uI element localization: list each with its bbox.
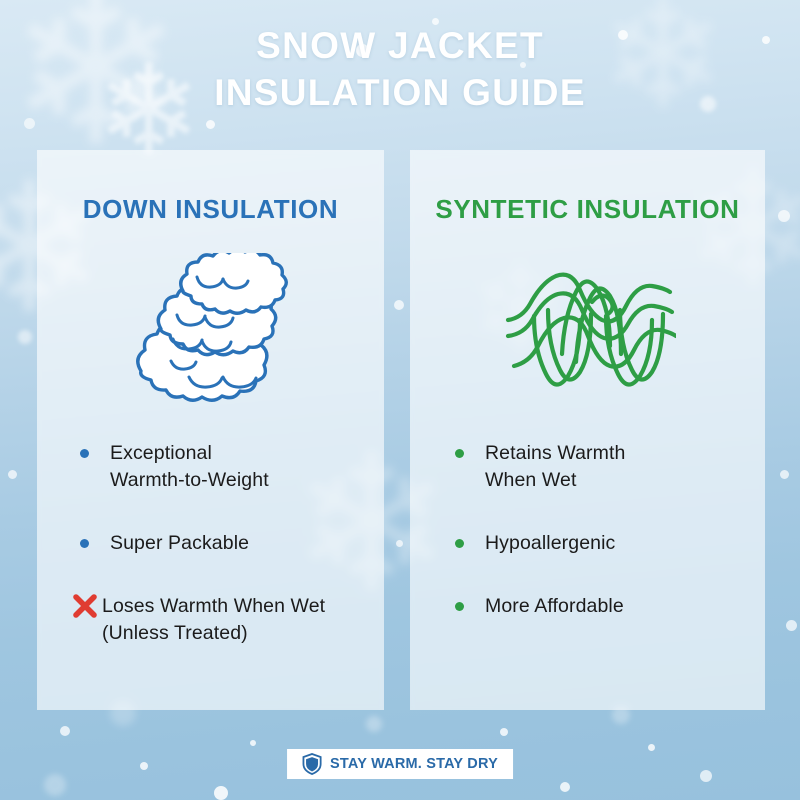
bokeh-dot bbox=[24, 118, 35, 129]
bullet-dot-icon bbox=[80, 440, 110, 467]
shield-icon bbox=[302, 753, 322, 775]
bokeh-dot bbox=[366, 716, 382, 732]
bokeh-dot bbox=[560, 782, 570, 792]
bokeh-dot bbox=[44, 774, 66, 796]
bokeh-dot bbox=[214, 786, 228, 800]
bullet-dot-icon bbox=[455, 593, 485, 620]
synthetic-illustration bbox=[410, 248, 765, 418]
bokeh-dot bbox=[778, 210, 790, 222]
card-synthetic-title: SYNTETIC INSULATION bbox=[410, 194, 765, 225]
bullet-dot-icon bbox=[455, 530, 485, 557]
bokeh-dot bbox=[786, 620, 797, 631]
page-title-line-1: SNOW JACKET bbox=[256, 25, 544, 66]
status-badge: STAY WARM. STAY DRY bbox=[287, 749, 513, 779]
status-badge-label: STAY WARM. STAY DRY bbox=[330, 756, 498, 772]
list-item-label: Loses Warmth When Wet (Unless Treated) bbox=[102, 593, 325, 647]
cross-mark-icon-glyph bbox=[72, 593, 98, 619]
list-item-label: Retains Warmth When Wet bbox=[485, 440, 625, 494]
bullet-dot-icon bbox=[455, 440, 485, 467]
list-item: Exceptional Warmth-to-Weight bbox=[37, 440, 384, 494]
list-item-label: Exceptional Warmth-to-Weight bbox=[110, 440, 269, 494]
infographic-canvas: ❄ ❄ ❄ ❄ ❄ ❄ ❄ SNOW JACKET bbox=[0, 0, 800, 800]
list-item: Retains Warmth When Wet bbox=[410, 440, 765, 494]
synthetic-bullet-list: Retains Warmth When Wet Hypoallergenic M… bbox=[410, 440, 765, 656]
list-item-label: Hypoallergenic bbox=[485, 530, 615, 557]
bokeh-dot bbox=[18, 330, 32, 344]
bokeh-dot bbox=[60, 726, 70, 736]
card-synthetic-insulation: SYNTETIC INSULATION bbox=[410, 150, 765, 710]
list-item-label: More Affordable bbox=[485, 593, 624, 620]
list-item: More Affordable bbox=[410, 593, 765, 620]
card-down-insulation: DOWN INSULATION bbox=[37, 150, 384, 710]
list-item-label: Super Packable bbox=[110, 530, 249, 557]
bokeh-dot bbox=[394, 300, 404, 310]
bokeh-dot bbox=[700, 770, 712, 782]
down-cluster-icon bbox=[127, 253, 295, 413]
card-down-title: DOWN INSULATION bbox=[37, 194, 384, 225]
bokeh-dot bbox=[250, 740, 256, 746]
page-title-line-2: INSULATION GUIDE bbox=[0, 69, 800, 116]
bokeh-dot bbox=[140, 762, 148, 770]
bullet-dot-icon bbox=[80, 530, 110, 557]
synthetic-fiber-icon bbox=[500, 258, 676, 408]
bokeh-dot bbox=[8, 470, 17, 479]
list-item: Hypoallergenic bbox=[410, 530, 765, 557]
bokeh-dot bbox=[500, 728, 508, 736]
list-item: Super Packable bbox=[37, 530, 384, 557]
list-item: Loses Warmth When Wet (Unless Treated) bbox=[37, 593, 384, 647]
cross-mark-icon bbox=[72, 593, 102, 620]
bokeh-dot bbox=[396, 540, 403, 547]
bokeh-dot bbox=[206, 120, 215, 129]
down-illustration bbox=[37, 248, 384, 418]
bokeh-dot bbox=[780, 470, 789, 479]
down-bullet-list: Exceptional Warmth-to-Weight Super Packa… bbox=[37, 440, 384, 683]
page-title: SNOW JACKET INSULATION GUIDE bbox=[0, 22, 800, 117]
bokeh-dot bbox=[648, 744, 655, 751]
